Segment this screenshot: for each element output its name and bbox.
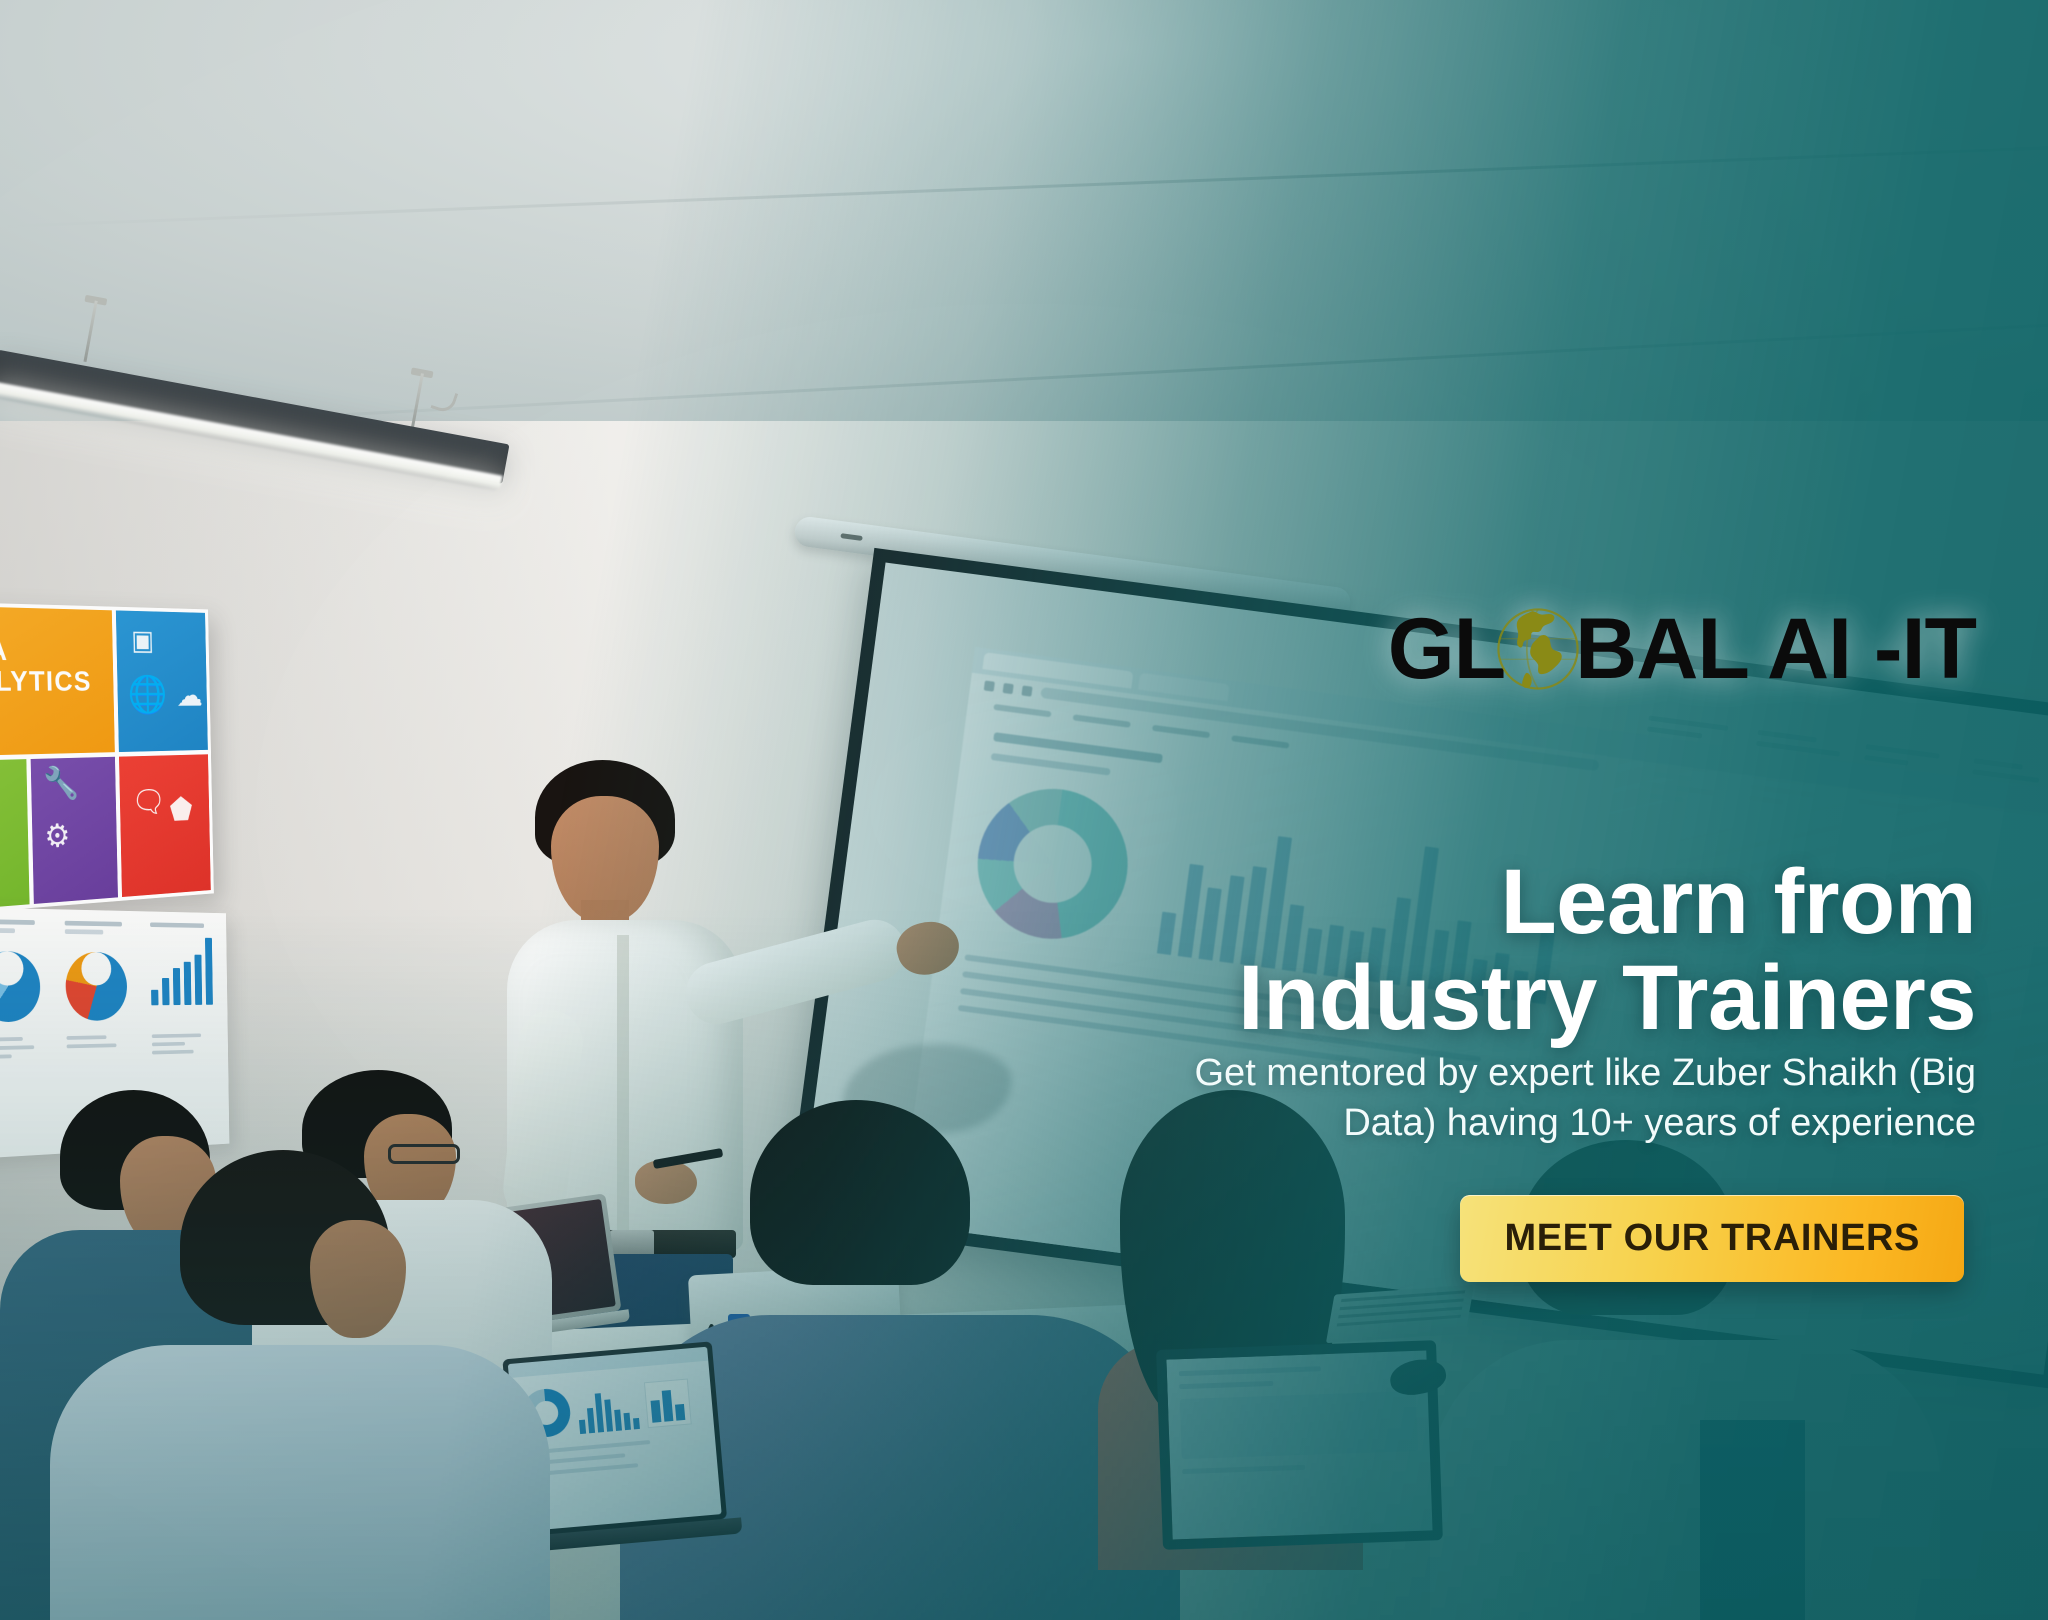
headline-line-2: Industry Trainers [956, 951, 1976, 1047]
brand-content: GL BAL AI -IT Learn from Industry Train [876, 0, 1976, 1620]
attendee-torso [50, 1345, 550, 1620]
sheet-donut-card [0, 919, 53, 1022]
wall-poster-data-analytics: DATA ANALYTICS Itsvolt ▣ 🌐 ☁ ✺ ▭ 🔧 ⚙ 🗨 ⬟ [0, 600, 214, 920]
globe-icon: 🌐 [127, 677, 167, 714]
poster-donut-3-chart [65, 952, 127, 1021]
banner-canvas: DATA ANALYTICS Itsvolt ▣ 🌐 ☁ ✺ ▭ 🔧 ⚙ 🗨 ⬟ [0, 0, 2048, 1620]
sheet-chart-row [0, 917, 220, 1024]
attendee-face [310, 1220, 406, 1338]
meet-our-trainers-button[interactable]: MEET OUR TRAINERS [1460, 1195, 1964, 1282]
tag-icon: ⬟ [169, 794, 192, 826]
laptop-dashboard-bar-chart [576, 1383, 640, 1434]
wrench-icon: 🔧 [43, 767, 79, 800]
sheet-text-row [0, 1033, 221, 1076]
poster-tile-support: 🗨 ⬟ [119, 754, 210, 897]
poster-title-line1: DATA [0, 634, 9, 667]
headline-line-1: Learn from [1500, 851, 1976, 953]
laptop-kpi-card [644, 1379, 692, 1429]
gear-icon: ⚙ [44, 819, 70, 852]
chat-icon: 🗨 [131, 786, 166, 818]
poster-tile-data-analytics: DATA ANALYTICS Itsvolt [0, 604, 115, 757]
poster-tile-network: ▣ 🌐 ☁ [116, 610, 208, 751]
brand-logo: GL BAL AI -IT [1388, 606, 1976, 692]
subheadline: Get mentored by expert like Zuber Shaikh… [1176, 1048, 1976, 1148]
poster-title-line2: ANALYTICS [0, 666, 92, 698]
poster-title: DATA ANALYTICS [0, 635, 92, 699]
logo-text-after: BAL AI -IT [1575, 606, 1976, 692]
logo-text-before: GL [1388, 606, 1505, 692]
roller-knob [840, 533, 862, 541]
globe-network-icon: ▣ [131, 627, 154, 655]
poster-tile-tools: 🔧 ⚙ [31, 756, 119, 904]
presenter-shirt-placket [617, 935, 629, 1235]
poster-tile-finance: ✺ ▭ [0, 759, 30, 916]
poster-donut-2-chart [0, 951, 41, 1023]
sheet-donut-card [65, 921, 139, 1021]
page-title: Learn from Industry Trainers [956, 855, 1976, 1046]
attendee-light-blue-shirt [60, 1150, 520, 1620]
globe-icon [1495, 606, 1581, 692]
cloud-icon: ☁ [176, 680, 203, 711]
sheet-bar-card [150, 922, 220, 1005]
poster-bar-chart [150, 934, 220, 1005]
